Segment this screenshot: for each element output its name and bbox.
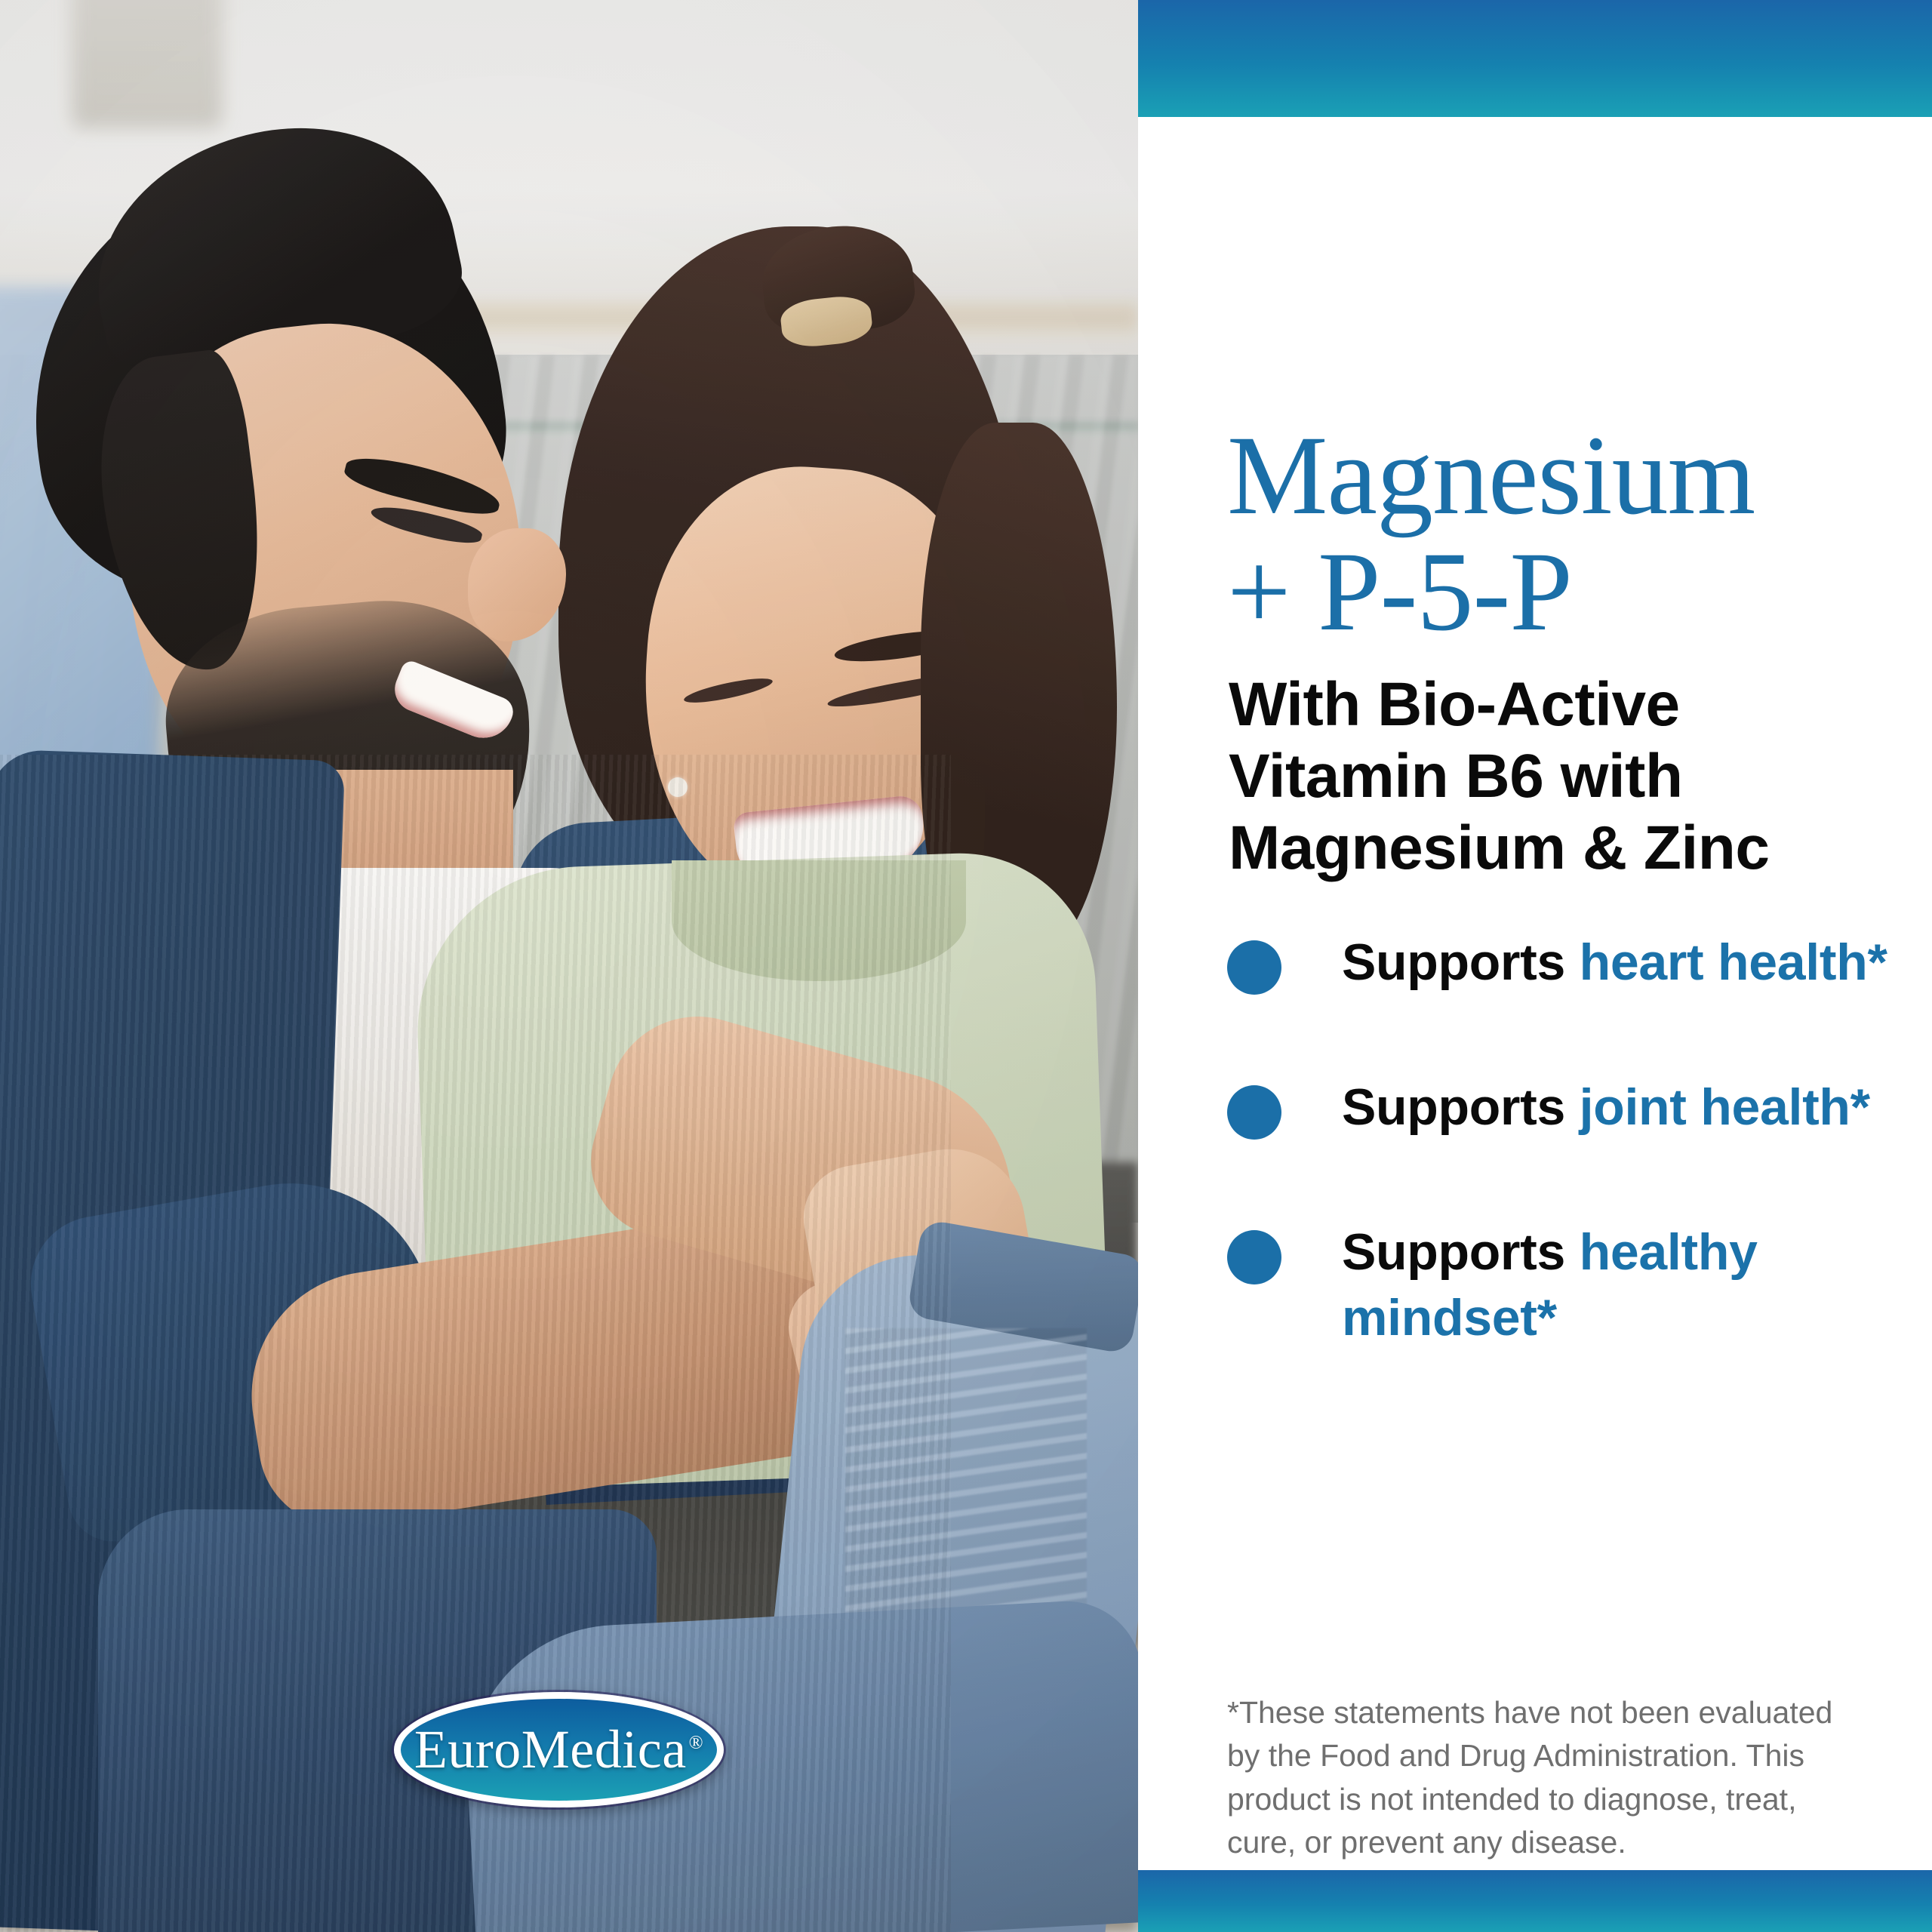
benefit-item: Supports healthy mindset* [1227,1220,1906,1351]
euromedica-logo: EuroMedica® [394,1692,724,1807]
content-panel: Magnesium + P-5-P With Bio-Active Vitami… [1138,0,1932,1932]
product-subtitle-line-1: With Bio-Active [1229,669,1832,740]
bullet-dot-icon [1227,1230,1281,1284]
top-accent-band [1138,0,1932,117]
benefit-prefix: Supports [1342,1078,1580,1136]
benefits-list: Supports heart health* Supports joint he… [1227,930,1906,1351]
marketing-banner: EuroMedica® Magnesium + P-5-P With Bio-A… [0,0,1932,1932]
product-subtitle: With Bio-Active Vitamin B6 with Magnesiu… [1229,669,1832,884]
product-title-line-2: + P-5-P [1227,534,1906,651]
benefit-item: Supports heart health* [1227,930,1906,1020]
lifestyle-photo: EuroMedica® [0,0,1138,1932]
product-subtitle-line-3: Magnesium & Zinc [1229,812,1832,884]
product-title-line-1: Magnesium [1227,413,1755,538]
benefit-text: Supports joint health* [1342,1075,1906,1140]
bullet-dot-icon [1227,940,1281,995]
euromedica-logo-text: EuroMedica® [414,1718,703,1781]
benefit-item: Supports joint health* [1227,1075,1906,1165]
benefit-prefix: Supports [1342,934,1580,991]
photo-vignette [0,0,1138,1932]
benefit-text: Supports healthy mindset* [1342,1220,1906,1351]
product-title: Magnesium + P-5-P [1227,417,1906,651]
registered-trademark-icon: ® [689,1733,704,1753]
benefit-highlight: heart health* [1580,934,1887,991]
fda-disclaimer: *These statements have not been evaluate… [1227,1691,1861,1865]
bullet-dot-icon [1227,1085,1281,1140]
bottom-accent-band [1138,1870,1932,1932]
benefit-highlight: joint health* [1580,1078,1870,1136]
product-subtitle-line-2: Vitamin B6 with [1229,740,1832,812]
benefit-prefix: Supports [1342,1223,1580,1281]
benefit-text: Supports heart health* [1342,930,1906,995]
